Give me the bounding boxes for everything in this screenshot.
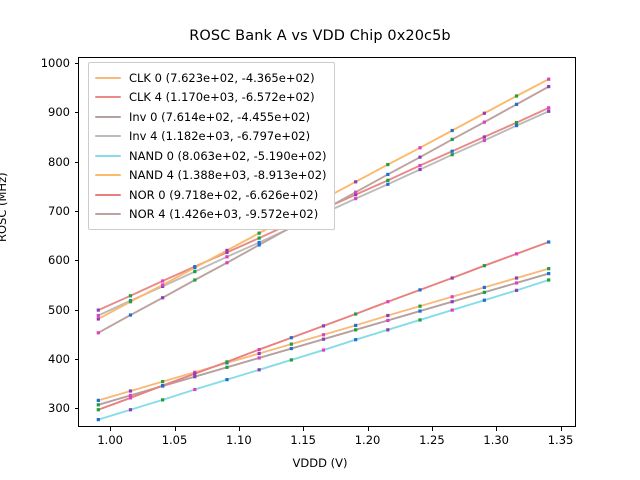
legend-color-swatch [95, 116, 121, 118]
y-tick-label: 900 [24, 105, 70, 119]
data-point-marker [386, 163, 389, 166]
data-point-marker [386, 173, 389, 176]
y-tick-label: 1000 [24, 56, 70, 70]
data-point-marker [483, 299, 486, 302]
y-tick-label: 300 [24, 401, 70, 415]
data-point-marker [225, 249, 228, 252]
data-point-marker [386, 179, 389, 182]
data-point-marker [322, 333, 325, 336]
x-tick-label: 1.20 [355, 433, 381, 447]
legend-item-label: CLK 0 (7.623e+02, -4.365e+02) [129, 71, 315, 85]
data-point-marker [97, 331, 100, 334]
data-point-marker [547, 278, 550, 281]
data-point-marker [515, 124, 518, 127]
data-point-marker [258, 368, 261, 371]
data-point-marker [97, 418, 100, 421]
legend-item-clk-4[interactable]: CLK 4 (1.170e+03, -6.572e+02) [95, 88, 327, 108]
data-point-marker [97, 399, 100, 402]
data-point-marker [547, 267, 550, 270]
data-point-marker [225, 255, 228, 258]
data-point-marker [225, 366, 228, 369]
legend-item-label: NAND 4 (1.388e+03, -8.913e+02) [129, 168, 327, 182]
data-point-marker [483, 264, 486, 267]
data-point-marker [129, 408, 132, 411]
data-point-marker [547, 272, 550, 275]
chart-title: ROSC Bank A vs VDD Chip 0x20c5b [0, 28, 640, 44]
y-tick-label: 600 [24, 253, 70, 267]
data-point-marker [161, 296, 164, 299]
y-tick-label: 400 [24, 352, 70, 366]
data-point-marker [258, 232, 261, 235]
legend-item-nand-4[interactable]: NAND 4 (1.388e+03, -8.913e+02) [95, 166, 327, 186]
legend-item-nand-0[interactable]: NAND 0 (8.063e+02, -5.190e+02) [95, 146, 327, 166]
data-point-marker [97, 308, 100, 311]
y-axis-label: ROSC (MHz) [0, 172, 9, 242]
data-point-marker [225, 261, 228, 264]
data-point-marker [483, 291, 486, 294]
data-point-marker [354, 180, 357, 183]
data-point-marker [483, 139, 486, 142]
legend-color-swatch [95, 174, 121, 176]
data-point-marker [354, 338, 357, 341]
data-point-marker [225, 378, 228, 381]
data-point-marker [193, 388, 196, 391]
data-point-marker [161, 279, 164, 282]
data-point-marker [290, 358, 293, 361]
legend-color-swatch [95, 213, 121, 215]
data-point-marker [515, 276, 518, 279]
chart-figure: ROSC Bank A vs VDD Chip 0x20c5b 30040050… [0, 0, 640, 480]
data-point-marker [193, 375, 196, 378]
data-point-marker [418, 164, 421, 167]
data-point-marker [515, 103, 518, 106]
data-point-marker [483, 286, 486, 289]
data-point-marker [97, 408, 100, 411]
data-point-marker [515, 289, 518, 292]
y-tick-label: 700 [24, 204, 70, 218]
data-point-marker [354, 328, 357, 331]
data-point-marker [547, 106, 550, 109]
data-point-marker [193, 270, 196, 273]
data-point-marker [547, 85, 550, 88]
y-tick-label: 500 [24, 303, 70, 317]
data-point-marker [451, 295, 454, 298]
data-point-marker [258, 356, 261, 359]
data-point-marker [386, 328, 389, 331]
x-tick-label: 1.30 [483, 433, 509, 447]
data-point-marker [161, 283, 164, 286]
data-point-marker [161, 384, 164, 387]
data-point-marker [386, 300, 389, 303]
data-point-marker [547, 240, 550, 243]
data-point-marker [161, 398, 164, 401]
data-point-marker [290, 347, 293, 350]
data-point-marker [451, 138, 454, 141]
data-point-marker [418, 156, 421, 159]
data-point-marker [129, 389, 132, 392]
data-point-marker [483, 112, 486, 115]
data-point-marker [483, 135, 486, 138]
legend-color-swatch [95, 96, 121, 98]
data-point-marker [322, 338, 325, 341]
x-tick-label: 1.00 [97, 433, 123, 447]
legend-color-swatch [95, 77, 121, 79]
legend-item-label: NOR 4 (1.426e+03, -9.572e+02) [129, 207, 318, 221]
x-tick-label: 1.10 [226, 433, 252, 447]
legend-color-swatch [95, 155, 121, 157]
data-point-marker [418, 146, 421, 149]
data-point-marker [515, 94, 518, 97]
legend-item-label: Inv 0 (7.614e+02, -4.455e+02) [129, 110, 310, 124]
data-point-marker [418, 309, 421, 312]
x-tick-label: 1.25 [419, 433, 445, 447]
data-point-marker [322, 348, 325, 351]
y-tick-label: 800 [24, 155, 70, 169]
x-tick-label: 1.05 [162, 433, 188, 447]
data-point-marker [451, 300, 454, 303]
legend-color-swatch [95, 194, 121, 196]
data-point-marker [418, 318, 421, 321]
data-point-marker [290, 343, 293, 346]
data-point-marker [515, 281, 518, 284]
data-point-marker [354, 324, 357, 327]
data-point-marker [451, 129, 454, 132]
data-point-marker [451, 308, 454, 311]
data-point-marker [451, 153, 454, 156]
data-point-marker [225, 360, 228, 363]
data-point-marker [193, 372, 196, 375]
legend-item-label: NAND 0 (8.063e+02, -5.190e+02) [129, 149, 327, 163]
legend-item-inv-0[interactable]: Inv 0 (7.614e+02, -4.455e+02) [95, 107, 327, 127]
x-axis-label: VDDD (V) [0, 456, 640, 470]
legend-item-label: CLK 4 (1.170e+03, -6.572e+02) [129, 90, 315, 104]
legend-color-swatch [95, 135, 121, 137]
data-point-marker [418, 288, 421, 291]
legend-item-nor-0[interactable]: NOR 0 (9.718e+02, -6.626e+02) [95, 185, 327, 205]
legend-item-label: Inv 4 (1.182e+03, -6.797e+02) [129, 129, 310, 143]
data-point-marker [97, 314, 100, 317]
data-point-marker [547, 110, 550, 113]
data-point-marker [418, 305, 421, 308]
legend-item-label: NOR 0 (9.718e+02, -6.626e+02) [129, 188, 318, 202]
data-point-marker [354, 191, 357, 194]
data-point-marker [129, 294, 132, 297]
legend-item-clk-0[interactable]: CLK 0 (7.623e+02, -4.365e+02) [95, 68, 327, 88]
legend-item-inv-4[interactable]: Inv 4 (1.182e+03, -6.797e+02) [95, 127, 327, 147]
data-point-marker [354, 197, 357, 200]
data-point-marker [386, 314, 389, 317]
data-point-marker [129, 396, 132, 399]
data-point-marker [193, 278, 196, 281]
data-point-marker [193, 266, 196, 269]
data-point-marker [451, 150, 454, 153]
data-point-marker [386, 319, 389, 322]
x-tick-label: 1.35 [548, 433, 574, 447]
data-point-marker [451, 276, 454, 279]
data-point-marker [97, 403, 100, 406]
data-point-marker [354, 312, 357, 315]
data-point-marker [386, 183, 389, 186]
data-point-marker [515, 252, 518, 255]
x-tick-label: 1.15 [290, 433, 316, 447]
data-point-marker [258, 243, 261, 246]
data-point-marker [129, 300, 132, 303]
data-point-marker [483, 121, 486, 124]
data-point-marker [97, 317, 100, 320]
data-point-marker [515, 121, 518, 124]
chart-legend[interactable]: CLK 0 (7.623e+02, -4.365e+02)CLK 4 (1.17… [88, 62, 335, 230]
legend-item-nor-4[interactable]: NOR 4 (1.426e+03, -9.572e+02) [95, 205, 327, 225]
data-point-marker [290, 336, 293, 339]
data-point-marker [418, 168, 421, 171]
data-point-marker [129, 313, 132, 316]
data-point-marker [258, 348, 261, 351]
data-point-marker [322, 324, 325, 327]
data-point-marker [547, 78, 550, 81]
data-point-marker [258, 352, 261, 355]
data-point-marker [258, 236, 261, 239]
data-point-marker [161, 380, 164, 383]
